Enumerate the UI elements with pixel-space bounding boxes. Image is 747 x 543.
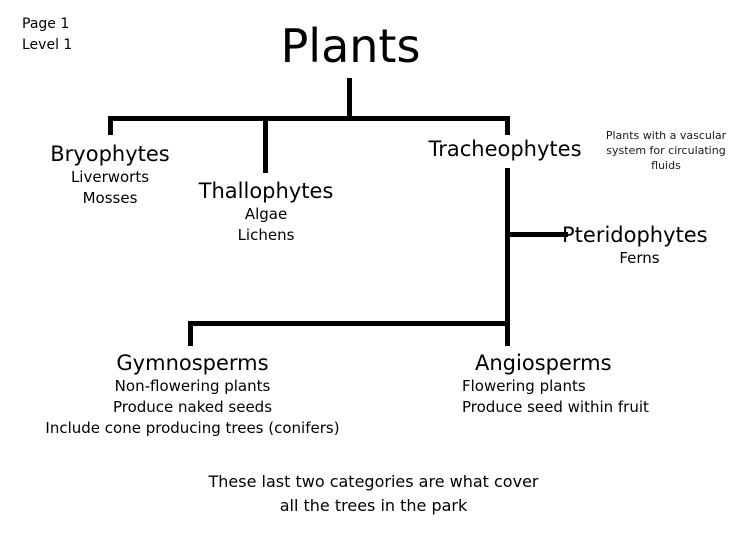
node-pteridophytes: Pteridophytes Ferns [562,222,747,269]
connector-tracheophyte-trunk [505,168,510,346]
node-thallophytes-title: Thallophytes [176,178,356,204]
node-tracheophytes: Tracheophytes [415,136,595,162]
diagram-title: Plants [0,18,747,74]
connector-leg-bryophytes [108,116,113,135]
connector-leg-gymnosperms [188,321,193,346]
diagram-canvas: Page 1 Level 1 Plants Bryophytes Liverwo… [0,0,747,543]
diagram-title-text: Plants [281,19,421,73]
connector-leg-thallophytes [263,116,268,173]
node-pteridophytes-details: Ferns [562,248,717,269]
footer-note: These last two categories are what cover… [0,470,747,518]
connector-leg-tracheophytes [505,116,510,135]
node-bryophytes-details: Liverworts Mosses [20,167,200,209]
node-pteridophytes-title: Pteridophytes [562,222,747,248]
node-thallophytes-details: Algae Lichens [176,204,356,246]
node-gymnosperms: Gymnosperms Non-flowering plants Produce… [10,350,375,439]
node-angiosperms: Angiosperms Flowering plants Produce see… [462,350,722,418]
connector-title-stem [347,78,352,121]
node-angiosperms-details: Flowering plants Produce seed within fru… [462,376,722,418]
node-tracheophytes-annotation: Plants with a vascular system for circul… [593,128,739,173]
connector-stub-pteridophytes [505,232,568,237]
node-thallophytes: Thallophytes Algae Lichens [176,178,356,246]
connector-top-bar [108,116,510,121]
node-gymnosperms-title: Gymnosperms [10,350,375,376]
node-bryophytes-title: Bryophytes [20,141,200,167]
connector-bottom-bar [188,321,510,326]
node-tracheophytes-title: Tracheophytes [415,136,595,162]
node-gymnosperms-details: Non-flowering plants Produce naked seeds… [10,376,375,439]
node-angiosperms-title: Angiosperms [475,350,722,376]
node-bryophytes: Bryophytes Liverworts Mosses [20,141,200,209]
